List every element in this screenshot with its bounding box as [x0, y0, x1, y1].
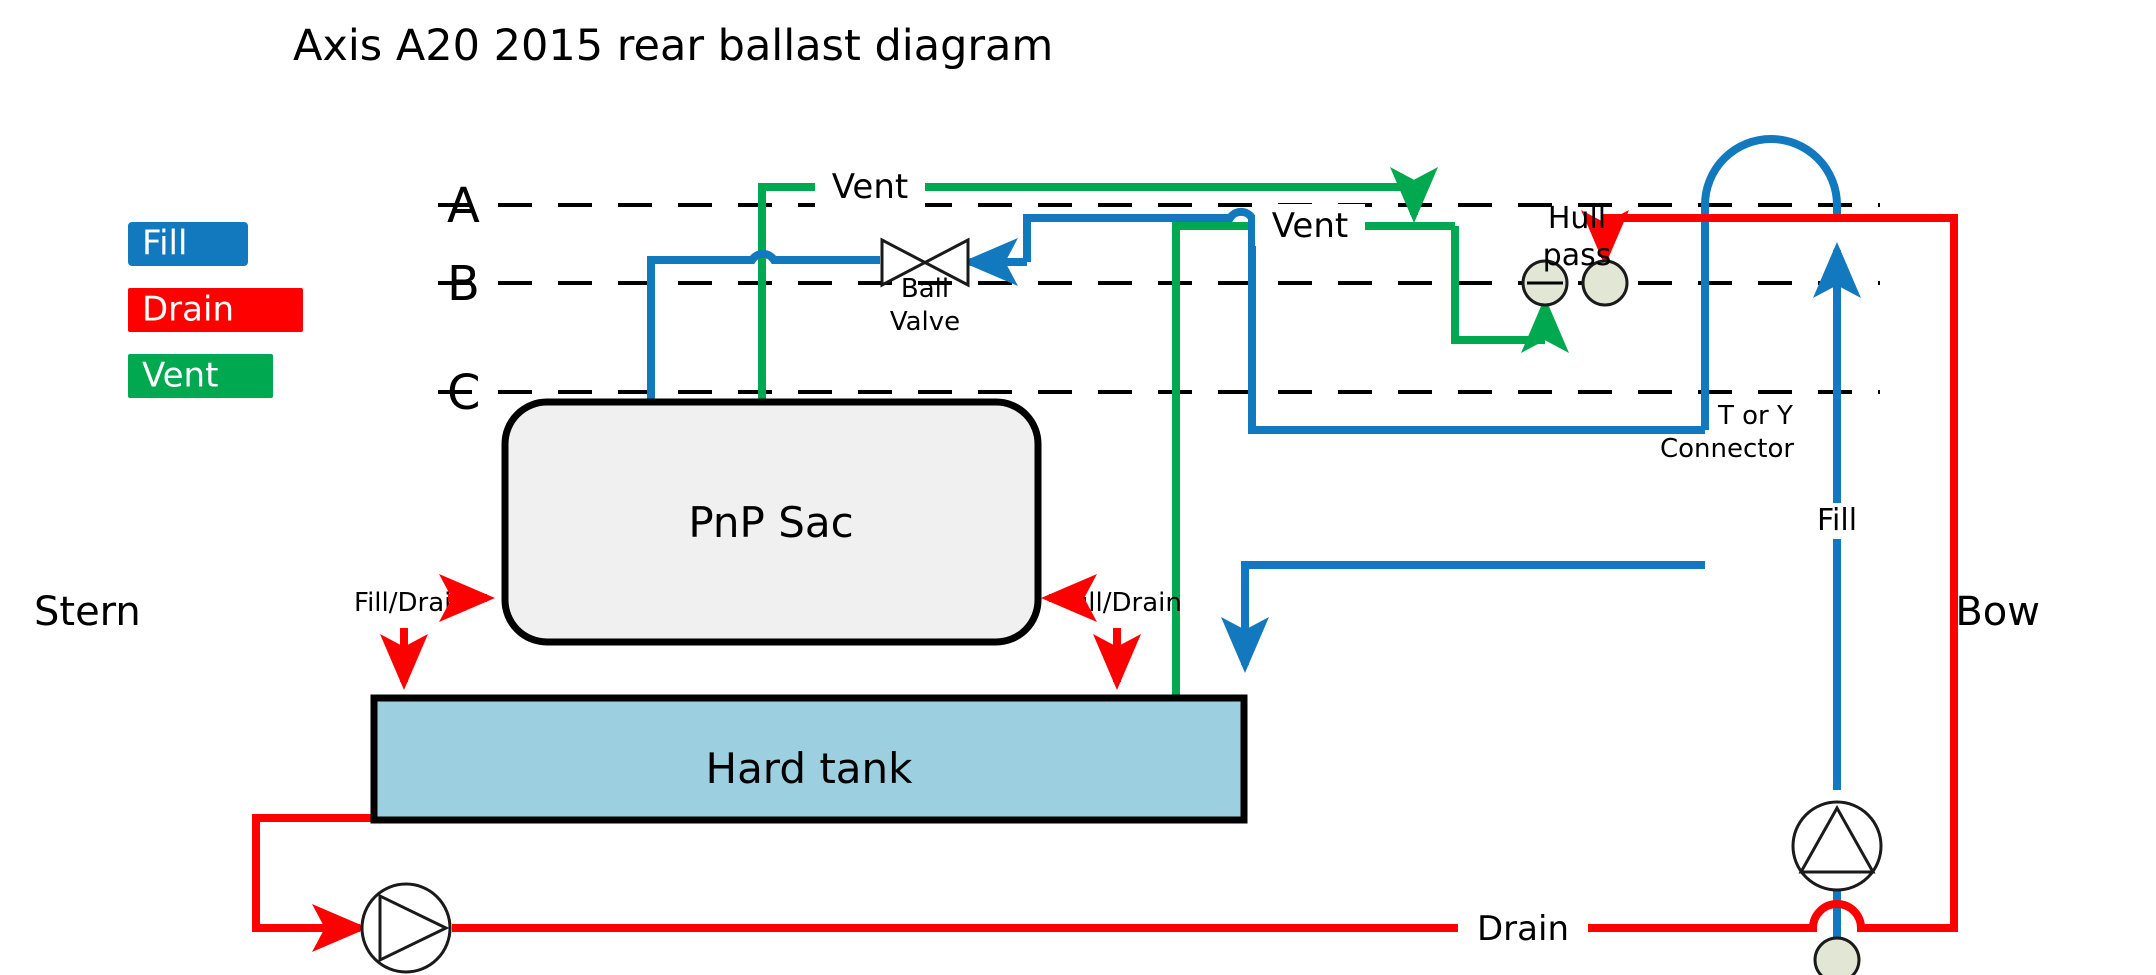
reference-label-b: B: [447, 256, 480, 312]
vent-lower-label: Vent: [1272, 206, 1348, 246]
vent-labels: Vent Vent: [815, 165, 1365, 246]
connector-label-line1: T or Y: [1717, 401, 1793, 431]
ball-valve-label-line2: Valve: [890, 307, 960, 337]
hull-pass-label-line1: Hull: [1548, 201, 1606, 236]
fill-drain-right-label: Fill/Drain: [1068, 588, 1182, 618]
legend-label-drain: Drain: [142, 290, 234, 330]
hard-tank-label: Hard tank: [705, 744, 913, 793]
reference-label-a: A: [447, 178, 480, 234]
ball-valve: Ball Valve: [882, 240, 968, 337]
fill-pipe-tank-branch: [1245, 565, 1705, 665]
stern-label: Stern: [34, 589, 141, 635]
hull-pass-label-line2: pass: [1543, 238, 1612, 273]
legend: Fill Drain Vent: [128, 222, 303, 398]
fill-thru-hull-fitting: [1815, 938, 1859, 975]
drain-pump: [362, 884, 450, 972]
diagram-canvas: Axis A20 2015 rear ballast diagram Fill …: [0, 0, 2156, 975]
fill-pump-body: [1793, 802, 1881, 890]
vent-upper-label: Vent: [832, 167, 908, 207]
ballast-schematic: Axis A20 2015 rear ballast diagram Fill …: [0, 0, 2156, 975]
fill-drain-left: Fill/Drain: [354, 588, 487, 682]
drain-bottom-label: Drain: [1477, 909, 1569, 949]
fill-pump: [1793, 802, 1881, 890]
connector-label-line2: Connector: [1660, 434, 1794, 464]
fill-pipe-upper-main: [1027, 212, 1252, 430]
vent-pipe-tank-riser: [1176, 226, 1455, 700]
bow-label: Bow: [1955, 589, 2040, 635]
pnp-sac-label: PnP Sac: [688, 498, 853, 547]
legend-label-fill: Fill: [142, 224, 187, 264]
page-title: Axis A20 2015 rear ballast diagram: [293, 21, 1053, 71]
legend-label-vent: Vent: [142, 356, 218, 396]
fill-drain-left-label: Fill/Drain: [354, 588, 468, 618]
ball-valve-label-line1: Ball: [901, 274, 949, 304]
reference-label-c: C: [447, 365, 481, 421]
fill-drain-right: Fill/Drain: [1049, 588, 1182, 682]
drain-pump-body: [362, 884, 450, 972]
fill-riser-label-text: Fill: [1817, 503, 1857, 538]
